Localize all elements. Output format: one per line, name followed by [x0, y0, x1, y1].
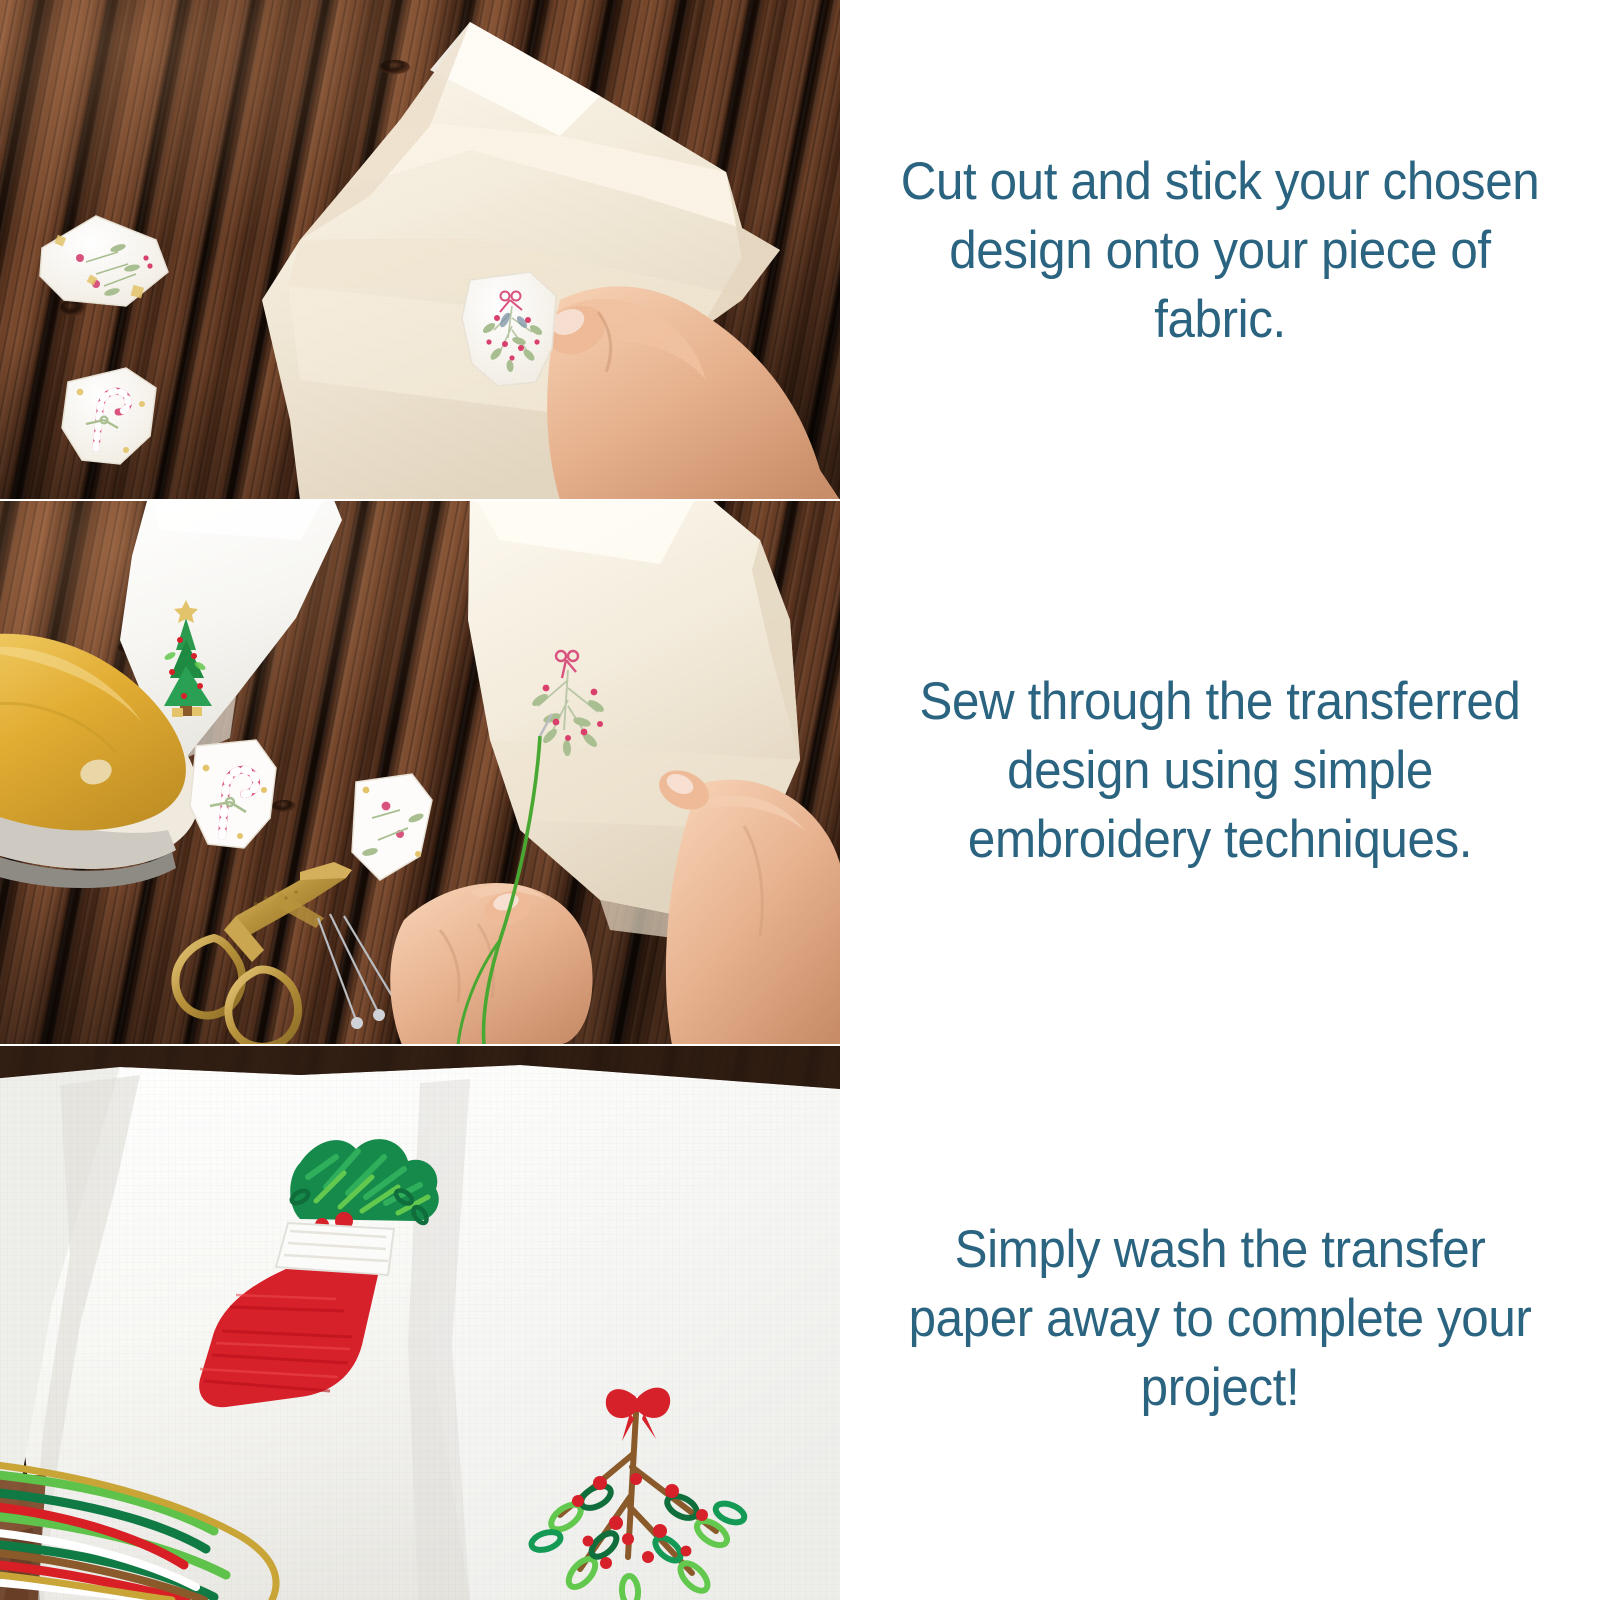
step-2-photo [0, 500, 840, 1045]
floral-transfer-sticker [352, 774, 432, 880]
stocking-cuff [276, 1223, 394, 1275]
candy-cane-transfer-sticker [190, 740, 276, 848]
instruction-collage: Cut out and stick your chosen design ont… [0, 0, 1600, 1600]
step-3-illustration [0, 1045, 840, 1600]
step-2-caption: Sew through the transferred design using… [867, 668, 1574, 875]
caption-column: Cut out and stick your chosen design ont… [840, 0, 1600, 1600]
step-3-photo [0, 1045, 840, 1600]
photo-column [0, 0, 840, 1600]
step-1-photo [0, 0, 840, 500]
step-3-caption: Simply wash the transfer paper away to c… [867, 1216, 1574, 1423]
step-1-caption: Cut out and stick your chosen design ont… [867, 148, 1574, 355]
step-2-illustration [0, 500, 840, 1045]
right-hand-holding-fabric [653, 763, 840, 1045]
left-hand-pulling-thread [390, 883, 592, 1045]
sewing-pins [318, 914, 398, 1020]
stork-embroidery-scissors [175, 862, 352, 1045]
